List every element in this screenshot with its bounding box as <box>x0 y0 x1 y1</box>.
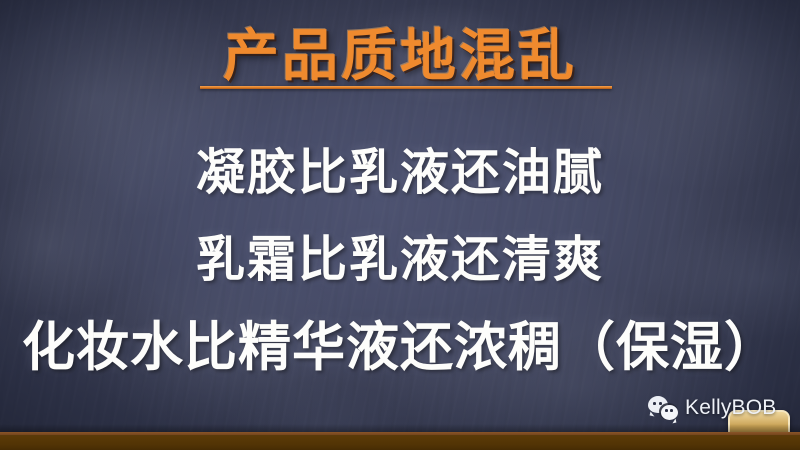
wechat-dot-2 <box>659 402 662 405</box>
page-title: 产品质地混乱 <box>223 26 577 88</box>
wechat-dot-4 <box>670 409 673 412</box>
wechat-bubble-small <box>661 405 678 420</box>
wechat-watermark: KellyBOB <box>648 396 776 420</box>
body-line-3: 化妆水比精华液还浓稠（保湿） <box>0 313 800 383</box>
wechat-dot-3 <box>665 409 668 412</box>
slide-image: 产品质地混乱 凝胶比乳液还油腻 乳霜比乳液还清爽 化妆水比精华液还浓稠（保湿） … <box>0 0 800 450</box>
wechat-icon <box>648 396 678 420</box>
wechat-account-name: KellyBOB <box>685 396 776 420</box>
ledge-top-highlight <box>0 432 800 435</box>
chalkboard-ledge <box>0 432 800 450</box>
body-line-1: 凝胶比乳液还油腻 <box>0 141 800 205</box>
wechat-dot-1 <box>653 402 656 405</box>
body-line-2: 乳霜比乳液还清爽 <box>0 228 800 292</box>
title-block: 产品质地混乱 <box>0 26 800 88</box>
title-underline <box>200 86 612 89</box>
ledge-drop-shadow <box>0 424 800 432</box>
